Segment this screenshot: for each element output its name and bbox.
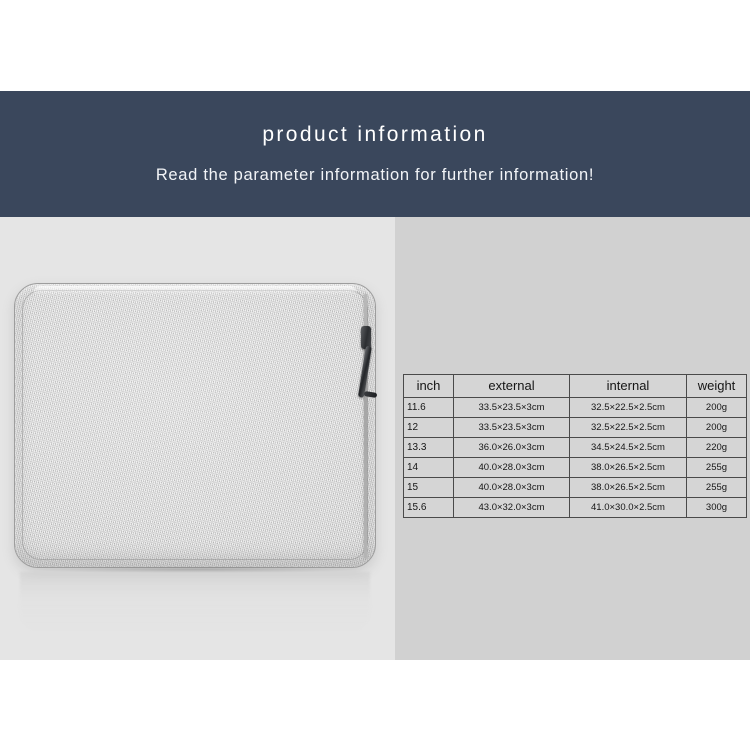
cell-inch: 14 <box>404 458 454 478</box>
cell-internal: 38.0×26.5×2.5cm <box>570 458 687 478</box>
sleeve-body <box>14 283 376 568</box>
cell-inch: 13.3 <box>404 438 454 458</box>
column-header-external: external <box>454 375 570 398</box>
zipper-pull-icon <box>358 346 372 398</box>
table-row: 14 40.0×28.0×3cm 38.0×26.5×2.5cm 255g <box>404 458 747 478</box>
content-area: inch external internal weight 11.6 33.5×… <box>0 217 750 660</box>
column-header-weight: weight <box>687 375 747 398</box>
sleeve-piping <box>22 290 368 560</box>
page-subtitle: Read the parameter information for furth… <box>156 167 594 184</box>
table-header-row: inch external internal weight <box>404 375 747 398</box>
cell-external: 33.5×23.5×3cm <box>454 418 570 438</box>
product-information-banner: product information Read the parameter i… <box>0 91 750 217</box>
cell-external: 40.0×28.0×3cm <box>454 458 570 478</box>
cell-external: 33.5×23.5×3cm <box>454 398 570 418</box>
cell-weight: 300g <box>687 498 747 518</box>
cell-weight: 255g <box>687 478 747 498</box>
cell-internal: 41.0×30.0×2.5cm <box>570 498 687 518</box>
cell-inch: 11.6 <box>404 398 454 418</box>
sleeve-top-edge-highlight <box>33 286 357 295</box>
cell-internal: 38.0×26.5×2.5cm <box>570 478 687 498</box>
cell-weight: 200g <box>687 398 747 418</box>
cell-internal: 32.5×22.5×2.5cm <box>570 418 687 438</box>
cell-external: 40.0×28.0×3cm <box>454 478 570 498</box>
cell-internal: 32.5×22.5×2.5cm <box>570 398 687 418</box>
specification-table: inch external internal weight 11.6 33.5×… <box>403 374 747 518</box>
laptop-sleeve-image <box>14 283 378 575</box>
product-information-page: product information Read the parameter i… <box>0 0 750 750</box>
column-header-internal: internal <box>570 375 687 398</box>
table-row: 15 40.0×28.0×3cm 38.0×26.5×2.5cm 255g <box>404 478 747 498</box>
table-row: 15.6 43.0×32.0×3cm 41.0×30.0×2.5cm 300g <box>404 498 747 518</box>
cell-internal: 34.5×24.5×2.5cm <box>570 438 687 458</box>
product-photo-panel <box>0 217 395 660</box>
table-row: 13.3 36.0×26.0×3cm 34.5×24.5×2.5cm 220g <box>404 438 747 458</box>
cell-weight: 220g <box>687 438 747 458</box>
column-header-inch: inch <box>404 375 454 398</box>
cell-weight: 200g <box>687 418 747 438</box>
sleeve-reflection <box>20 572 370 632</box>
cell-inch: 12 <box>404 418 454 438</box>
cell-weight: 255g <box>687 458 747 478</box>
table-row: 11.6 33.5×23.5×3cm 32.5×22.5×2.5cm 200g <box>404 398 747 418</box>
cell-external: 43.0×32.0×3cm <box>454 498 570 518</box>
cell-inch: 15 <box>404 478 454 498</box>
table-row: 12 33.5×23.5×3cm 32.5×22.5×2.5cm 200g <box>404 418 747 438</box>
cell-external: 36.0×26.0×3cm <box>454 438 570 458</box>
page-title: product information <box>262 124 487 145</box>
cell-inch: 15.6 <box>404 498 454 518</box>
